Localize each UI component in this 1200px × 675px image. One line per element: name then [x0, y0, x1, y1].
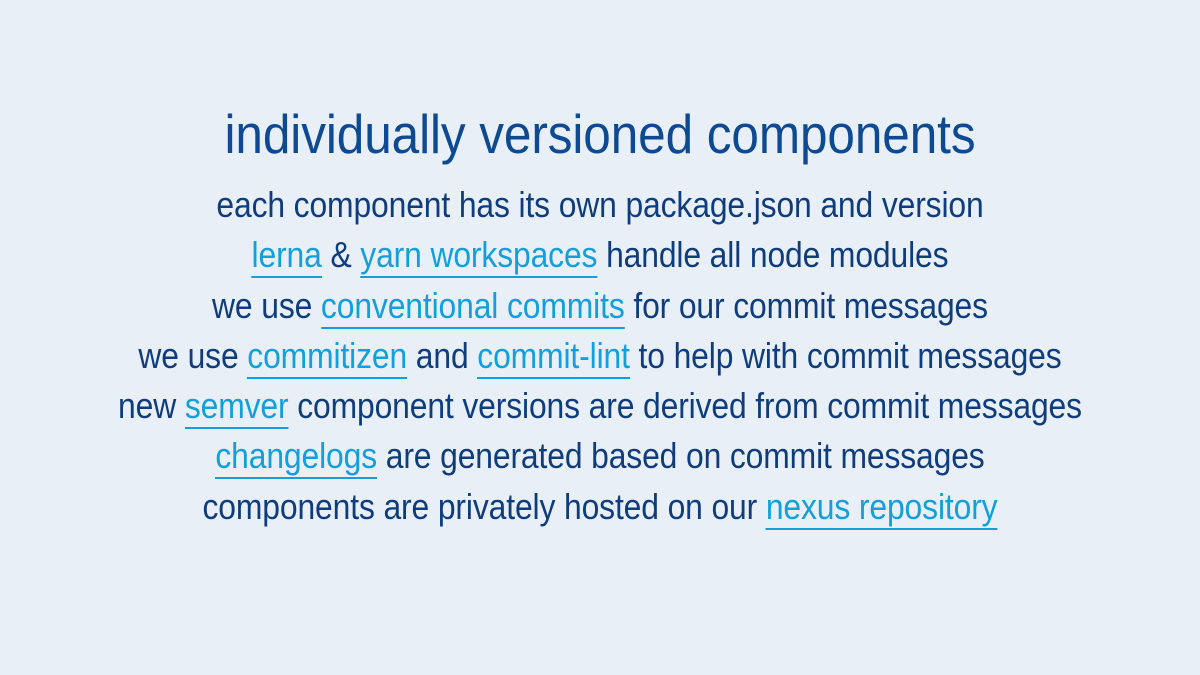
line-conventional-commits: we use conventional commits for our comm… [69, 281, 1131, 331]
body-text: we use [138, 335, 247, 376]
page-title: individually versioned components [60, 100, 1140, 168]
link-changelogs[interactable]: changelogs [215, 435, 377, 479]
link-yarn-workspaces[interactable]: yarn workspaces [360, 234, 597, 278]
body-text: and [407, 335, 477, 376]
line-changelogs: changelogs are generated based on commit… [69, 431, 1131, 481]
link-commitizen[interactable]: commitizen [247, 335, 407, 379]
body-text: handle all node modules [597, 234, 948, 275]
link-commit-lint[interactable]: commit-lint [477, 335, 630, 379]
body-text: we use [212, 285, 321, 326]
body-text: for our commit messages [625, 285, 988, 326]
slide-body: each component has its own package.json … [0, 180, 1200, 532]
body-text: each component has its own package.json … [216, 184, 983, 225]
link-nexus-repository[interactable]: nexus repository [766, 486, 998, 530]
line-lerna-yarn: lerna & yarn workspaces handle all node … [69, 230, 1131, 280]
presentation-slide: individually versioned components each c… [0, 0, 1200, 675]
body-text: new [118, 385, 185, 426]
body-text: are generated based on commit messages [377, 435, 985, 476]
body-text: & [322, 234, 361, 275]
line-commitizen-commitlint: we use commitizen and commit-lint to hel… [69, 331, 1131, 381]
line-semver: new semver component versions are derive… [69, 381, 1131, 431]
link-lerna[interactable]: lerna [252, 234, 322, 278]
body-text: to help with commit messages [630, 335, 1062, 376]
line-nexus: components are privately hosted on our n… [69, 482, 1131, 532]
link-semver[interactable]: semver [185, 385, 289, 429]
body-text: component versions are derived from comm… [288, 385, 1081, 426]
link-conventional-commits[interactable]: conventional commits [321, 285, 625, 329]
line-package-json: each component has its own package.json … [69, 180, 1131, 230]
body-text: components are privately hosted on our [203, 486, 766, 527]
